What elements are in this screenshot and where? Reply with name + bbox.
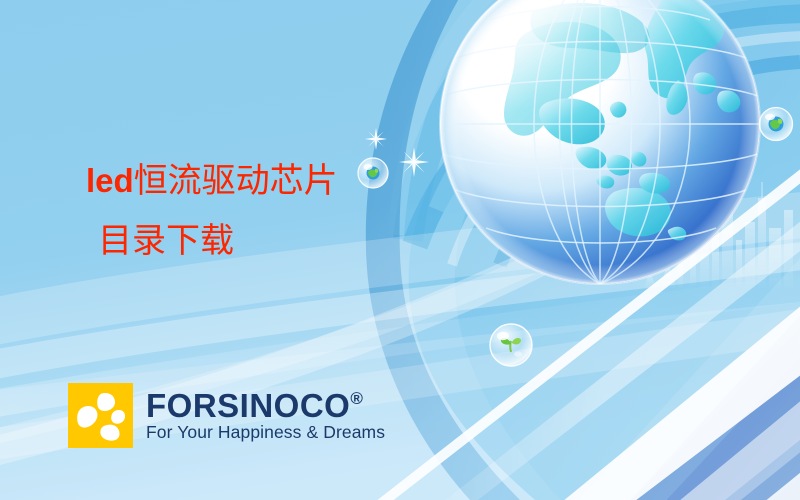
headline-line-1: led恒流驱动芯片 [86,164,416,198]
forsinoco-logo: FORSINOCO® For Your Happiness & Dreams [68,383,385,448]
banner-image: led恒流驱动芯片 目录下载 FORSINOCO® For Your Happi… [0,0,800,500]
starburst-small-icon [365,128,387,155]
headline-line-2: 目录下载 [86,224,416,258]
four-petal-flower-mark-icon [68,383,133,448]
bubble-leaf-icon [488,322,534,373]
earth-globe [428,0,772,296]
headline-latin: led [86,162,134,199]
logo-wordmark-text: FORSINOCO [146,387,350,424]
bubble-globe-icon-right [758,106,794,147]
logo-tagline: For Your Happiness & Dreams [146,423,385,442]
logo-wordmark: FORSINOCO® [146,389,385,423]
headline-cjk: 恒流驱动芯片 [134,161,338,201]
registered-trademark-symbol: ® [350,389,363,408]
headline-text: led恒流驱动芯片 目录下载 [86,164,416,258]
logo-text-block: FORSINOCO® For Your Happiness & Dreams [146,389,385,443]
